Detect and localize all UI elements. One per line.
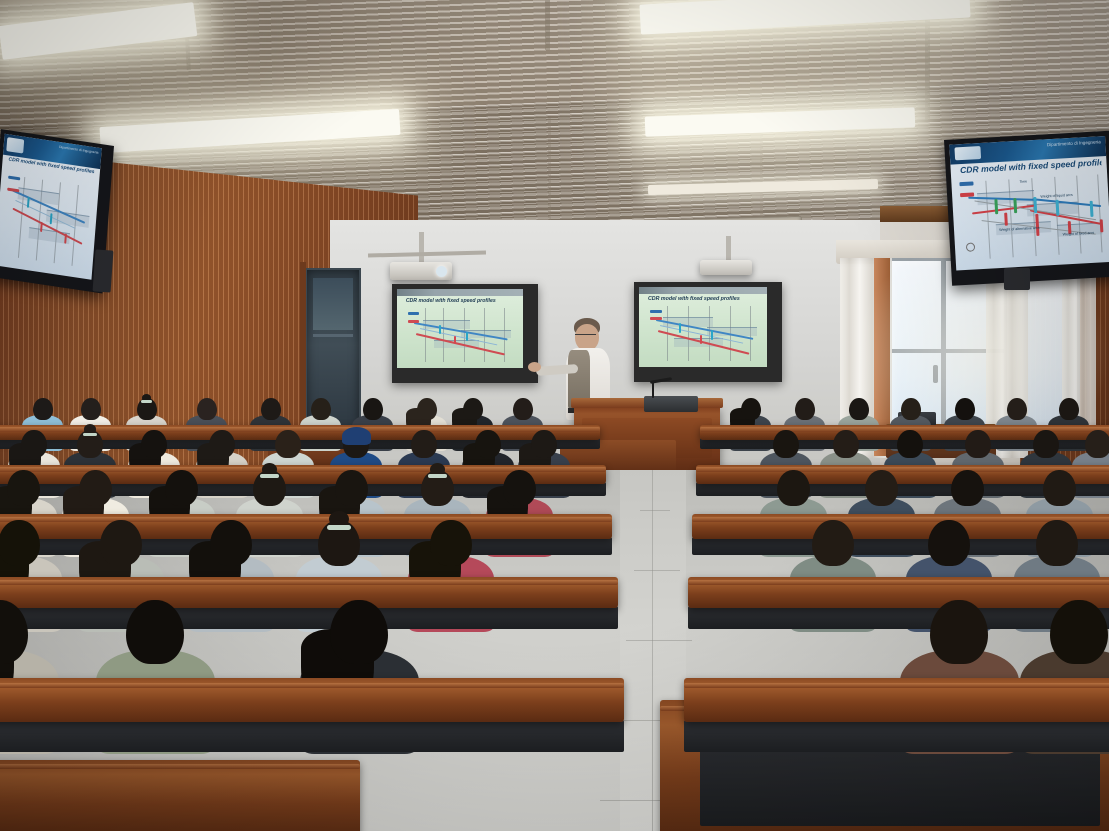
lecture-hall-photo: CDR model with fixed speed profiles [0, 0, 1109, 831]
bench-rail [684, 683, 1109, 688]
audience-member-head [1036, 520, 1078, 566]
audience-member-head [1033, 430, 1059, 458]
hair-tie [141, 400, 152, 403]
audience-member-head [100, 520, 142, 566]
audience-member-head [930, 600, 988, 664]
bench-row [684, 678, 1109, 722]
audience-member-head [951, 470, 984, 506]
bench-seat-back [684, 720, 1109, 752]
bench-row [0, 678, 624, 722]
audience-member-head [335, 470, 368, 506]
audience-member-head [81, 398, 101, 420]
audience-member-head [210, 520, 252, 566]
hair-tie [428, 474, 446, 478]
audience-member-head [0, 520, 40, 566]
bench-seat-back [0, 720, 624, 752]
bench-rail [0, 580, 618, 585]
audience-member-head [275, 430, 301, 458]
audience-member-head [165, 470, 198, 506]
hair-tie [83, 433, 97, 436]
audience-member-head [928, 520, 970, 566]
audience-member-head [773, 430, 799, 458]
hair-tie [327, 525, 351, 531]
audience-member-head [513, 398, 533, 420]
audience-member-head [849, 398, 869, 420]
bench-row-front [0, 760, 360, 831]
hair-tie [260, 474, 278, 478]
audience-member-head [21, 430, 47, 458]
audience-member-head [531, 430, 557, 458]
audience-member-head [965, 430, 991, 458]
audience-member-head [311, 398, 331, 420]
audience-member-head [197, 398, 217, 420]
audience-member-head [812, 520, 854, 566]
audience-member-head [901, 398, 921, 420]
audience-member-head [7, 470, 40, 506]
audience-member-head [1007, 398, 1027, 420]
audience-member-head [79, 470, 112, 506]
audience-member-head [741, 398, 761, 420]
audience-member-head [1050, 600, 1108, 664]
audience-member-head [475, 430, 501, 458]
audience-member-head [417, 398, 437, 420]
baseball-cap [342, 427, 371, 444]
audience-member-head [141, 430, 167, 458]
audience-member-head [261, 398, 281, 420]
audience-member-head [463, 398, 483, 420]
audience-member-head [897, 430, 923, 458]
audience-member-head [1085, 430, 1109, 458]
audience-member-head [411, 430, 437, 458]
audience-seating [0, 0, 1109, 831]
bench-rail [688, 580, 1109, 585]
audience-member-head [126, 600, 184, 664]
audience-member-head [833, 430, 859, 458]
audience-member-head [1059, 398, 1079, 420]
audience-member-head [1043, 470, 1076, 506]
audience-member-head [33, 398, 53, 420]
bench-rail [0, 683, 624, 688]
audience-member-head [955, 398, 975, 420]
audience-member-head [777, 470, 810, 506]
audience-member-head [330, 600, 388, 664]
audience-member-head [209, 430, 235, 458]
audience-member-head [430, 520, 472, 566]
audience-member-head [363, 398, 383, 420]
audience-member-head [503, 470, 536, 506]
audience-member-head [865, 470, 898, 506]
audience-member-head [795, 398, 815, 420]
